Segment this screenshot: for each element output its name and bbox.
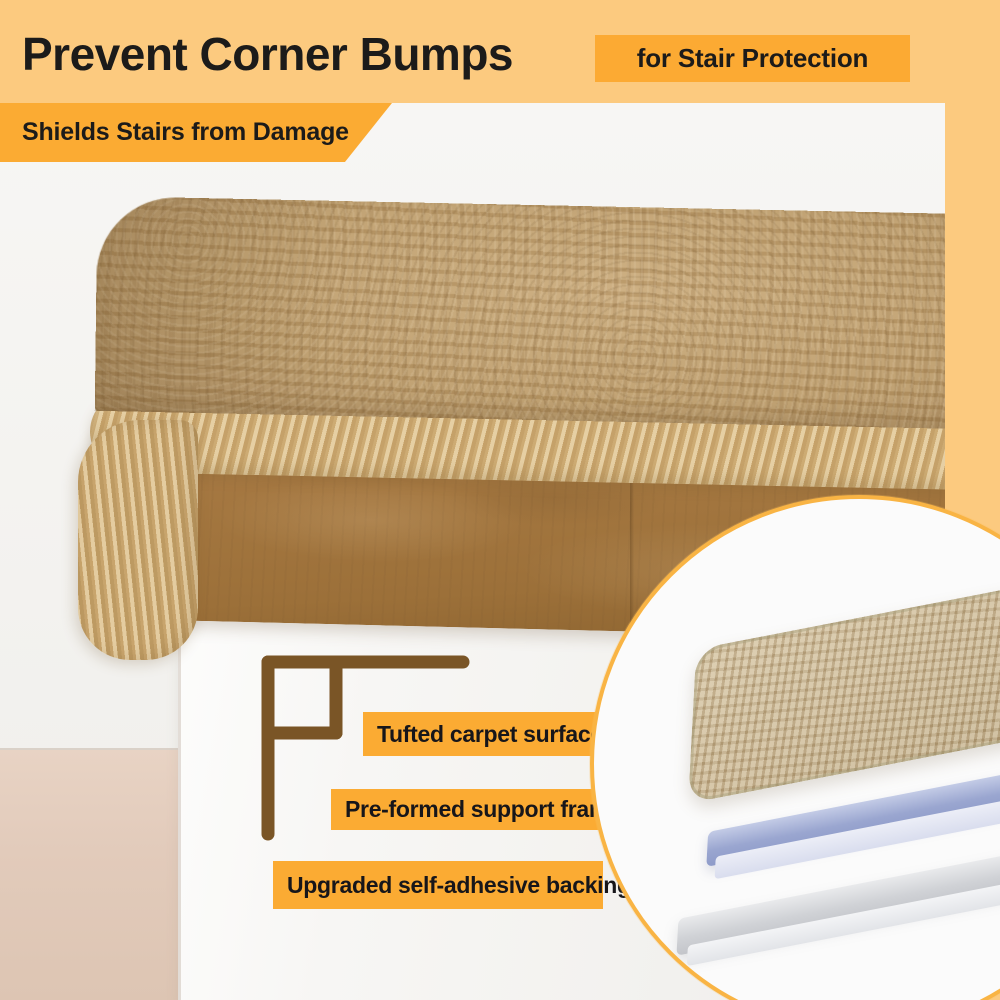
feature-label-text: Tufted carpet surface (377, 721, 603, 748)
photo-wood-floor (0, 750, 200, 1000)
sub-banner-label: Shields Stairs from Damage (22, 118, 349, 147)
feature-label-pre-formed-support-frame: Pre-formed support frame (331, 789, 603, 830)
inset-layer-carpet-surface (688, 584, 1000, 803)
photo-carpet-shading (95, 196, 337, 416)
inset-detail-circle (590, 495, 1000, 1000)
feature-label-tufted-carpet-surface: Tufted carpet surface (363, 712, 603, 756)
header-badge: for Stair Protection (595, 35, 910, 82)
sub-banner: Shields Stairs from Damage (0, 103, 392, 162)
photo-braided-corner-nose (78, 420, 198, 660)
header-band: Prevent Corner Bumps for Stair Protectio… (0, 0, 1000, 103)
feature-label-upgraded-self-adhesive-backing: Upgraded self-adhesive backing (273, 861, 603, 909)
photo-floor-baseline (0, 748, 200, 750)
page-title: Prevent Corner Bumps (22, 27, 513, 81)
header-badge-label: for Stair Protection (637, 43, 868, 74)
feature-label-text: Upgraded self-adhesive backing (287, 872, 631, 899)
photo-tufted-carpet-surface (95, 196, 945, 430)
promo-image-stage: Prevent Corner Bumps for Stair Protectio… (0, 0, 1000, 1000)
inset-contents (594, 499, 1000, 1000)
feature-label-text: Pre-formed support frame (345, 796, 622, 823)
